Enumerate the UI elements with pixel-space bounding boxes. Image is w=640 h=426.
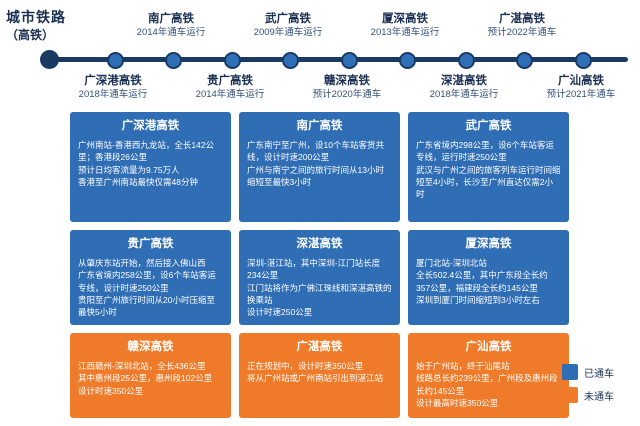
timeline-node-above-0[interactable] bbox=[165, 52, 182, 69]
card-body: 广东南宁至广州，设10个车站客货共线，设计时速200公里 广州与南宁之间的旅行时… bbox=[247, 139, 392, 188]
card-row-3: 赣深高铁 江西赣州-深圳北站，全长436公里 其中惠州段25公里，惠州段102公… bbox=[70, 333, 570, 418]
card-body: 厦门北站-深圳北站 全长502.4公里，其中广东段全长约357公里，福建段全长约… bbox=[416, 257, 561, 306]
timeline-item-name: 广深港高铁 bbox=[53, 74, 173, 89]
card-body: 广东省境内298公里，设6个车站客运专线，运行时速250公里 武汉与广州之间的旅… bbox=[416, 139, 561, 201]
timeline-node-above-2[interactable] bbox=[399, 52, 416, 69]
timeline: 南广高铁 2014年通车运行 武广高铁 2009年通车运行 厦深高铁 2013年… bbox=[0, 0, 640, 105]
card-title: 贵广高铁 bbox=[78, 237, 223, 252]
timeline-item-name: 贵广高铁 bbox=[170, 74, 290, 89]
timeline-item-name: 南广高铁 bbox=[111, 12, 231, 27]
timeline-node-above-3[interactable] bbox=[516, 52, 533, 69]
legend-swatch-orange bbox=[562, 387, 578, 403]
card-body: 江西赣州-深圳北站，全长436公里 其中惠州段25公里，惠州段102公里 设计时… bbox=[78, 360, 223, 397]
legend-swatch-blue bbox=[562, 364, 578, 380]
timeline-item-above-3[interactable]: 广湛高铁 预计2022年通车 bbox=[462, 12, 582, 39]
timeline-item-above-2[interactable]: 厦深高铁 2013年通车运行 bbox=[345, 12, 465, 39]
timeline-track bbox=[48, 57, 628, 62]
timeline-node-below-1[interactable] bbox=[224, 52, 241, 69]
timeline-item-below-1[interactable]: 贵广高铁 2014年通车运行 bbox=[170, 74, 290, 101]
timeline-node-below-4[interactable] bbox=[575, 52, 592, 69]
card-wuguang[interactable]: 武广高铁 广东省境内298公里，设6个车站客运专线，运行时速250公里 武汉与广… bbox=[408, 112, 569, 222]
card-guangshan[interactable]: 广汕高铁 始于广州站，终于汕尾站 线路总长约239公里，广州段及惠州段长约145… bbox=[408, 333, 569, 418]
card-title: 厦深高铁 bbox=[416, 237, 561, 252]
timeline-item-above-1[interactable]: 武广高铁 2009年通车运行 bbox=[228, 12, 348, 39]
timeline-item-sub: 2013年通车运行 bbox=[345, 27, 465, 39]
timeline-item-sub: 预计2021年通车 bbox=[521, 89, 640, 101]
timeline-item-sub: 预计2020年通车 bbox=[287, 89, 407, 101]
timeline-item-below-3[interactable]: 深湛高铁 2018年通车运行 bbox=[404, 74, 524, 101]
card-body: 广州南站-香港西九龙站，全长142公里；香港段26公里 预计日均客流量为9.75… bbox=[78, 139, 223, 188]
legend-item-planned: 未通车 bbox=[562, 387, 632, 403]
card-row-2: 贵广高铁 从肇庆东站开始，然后接入佛山西 广东省境内258公里，设6个车站客运专… bbox=[70, 230, 570, 325]
card-title: 广深港高铁 bbox=[78, 119, 223, 134]
timeline-item-below-2[interactable]: 赣深高铁 预计2020年通车 bbox=[287, 74, 407, 101]
card-body: 深圳-湛江站，其中深圳-江门站长度234公里 江门站将作为广佛江珠线和深湛高铁的… bbox=[247, 257, 392, 319]
timeline-node-below-2[interactable] bbox=[341, 52, 358, 69]
timeline-item-below-0[interactable]: 广深港高铁 2018年通车运行 bbox=[53, 74, 173, 101]
card-guangzhan[interactable]: 广湛高铁 正在规划中，设计时速350公里 将从广州站或广州南站引出到湛江站 bbox=[239, 333, 400, 418]
timeline-item-sub: 2018年通车运行 bbox=[53, 89, 173, 101]
legend-item-open: 已通车 bbox=[562, 364, 632, 380]
card-nanguang[interactable]: 南广高铁 广东南宁至广州，设10个车站客货共线，设计时速200公里 广州与南宁之… bbox=[239, 112, 400, 222]
timeline-item-sub: 2009年通车运行 bbox=[228, 27, 348, 39]
timeline-item-name: 武广高铁 bbox=[228, 12, 348, 27]
card-shenzhan[interactable]: 深湛高铁 深圳-湛江站，其中深圳-江门站长度234公里 江门站将作为广佛江珠线和… bbox=[239, 230, 400, 325]
timeline-item-sub: 预计2022年通车 bbox=[462, 27, 582, 39]
card-body: 正在规划中，设计时速350公里 将从广州站或广州南站引出到湛江站 bbox=[247, 360, 392, 385]
timeline-item-name: 赣深高铁 bbox=[287, 74, 407, 89]
timeline-item-name: 深湛高铁 bbox=[404, 74, 524, 89]
timeline-node-above-1[interactable] bbox=[282, 52, 299, 69]
card-title: 武广高铁 bbox=[416, 119, 561, 134]
card-guiguang[interactable]: 贵广高铁 从肇庆东站开始，然后接入佛山西 广东省境内258公里，设6个车站客运专… bbox=[70, 230, 231, 325]
card-guangshengang[interactable]: 广深港高铁 广州南站-香港西九龙站，全长142公里；香港段26公里 预计日均客流… bbox=[70, 112, 231, 222]
timeline-item-below-4[interactable]: 广汕高铁 预计2021年通车 bbox=[521, 74, 640, 101]
card-title: 深湛高铁 bbox=[247, 237, 392, 252]
card-body: 始于广州站，终于汕尾站 线路总长约239公里，广州段及惠州段长约145公里 设计… bbox=[416, 360, 561, 409]
timeline-item-name: 广湛高铁 bbox=[462, 12, 582, 27]
card-title: 广汕高铁 bbox=[416, 340, 561, 355]
card-grid: 广深港高铁 广州南站-香港西九龙站，全长142公里；香港段26公里 预计日均客流… bbox=[70, 112, 570, 426]
timeline-item-name: 厦深高铁 bbox=[345, 12, 465, 27]
timeline-item-above-0[interactable]: 南广高铁 2014年通车运行 bbox=[111, 12, 231, 39]
card-xiashen[interactable]: 厦深高铁 厦门北站-深圳北站 全长502.4公里，其中广东段全长约357公里，福… bbox=[408, 230, 569, 325]
card-body: 从肇庆东站开始，然后接入佛山西 广东省境内258公里，设6个车站客运专线，设计时… bbox=[78, 257, 223, 319]
timeline-item-sub: 2014年通车运行 bbox=[170, 89, 290, 101]
timeline-start-dot bbox=[40, 50, 59, 69]
card-title: 赣深高铁 bbox=[78, 340, 223, 355]
card-title: 广湛高铁 bbox=[247, 340, 392, 355]
card-ganshen[interactable]: 赣深高铁 江西赣州-深圳北站，全长436公里 其中惠州段25公里，惠州段102公… bbox=[70, 333, 231, 418]
timeline-node-below-0[interactable] bbox=[107, 52, 124, 69]
legend: 已通车 未通车 bbox=[562, 364, 632, 410]
card-row-1: 广深港高铁 广州南站-香港西九龙站，全长142公里；香港段26公里 预计日均客流… bbox=[70, 112, 570, 222]
timeline-item-name: 广汕高铁 bbox=[521, 74, 640, 89]
timeline-node-below-3[interactable] bbox=[458, 52, 475, 69]
legend-label: 未通车 bbox=[584, 388, 614, 403]
card-title: 南广高铁 bbox=[247, 119, 392, 134]
timeline-item-sub: 2014年通车运行 bbox=[111, 27, 231, 39]
legend-label: 已通车 bbox=[584, 365, 614, 380]
timeline-item-sub: 2018年通车运行 bbox=[404, 89, 524, 101]
